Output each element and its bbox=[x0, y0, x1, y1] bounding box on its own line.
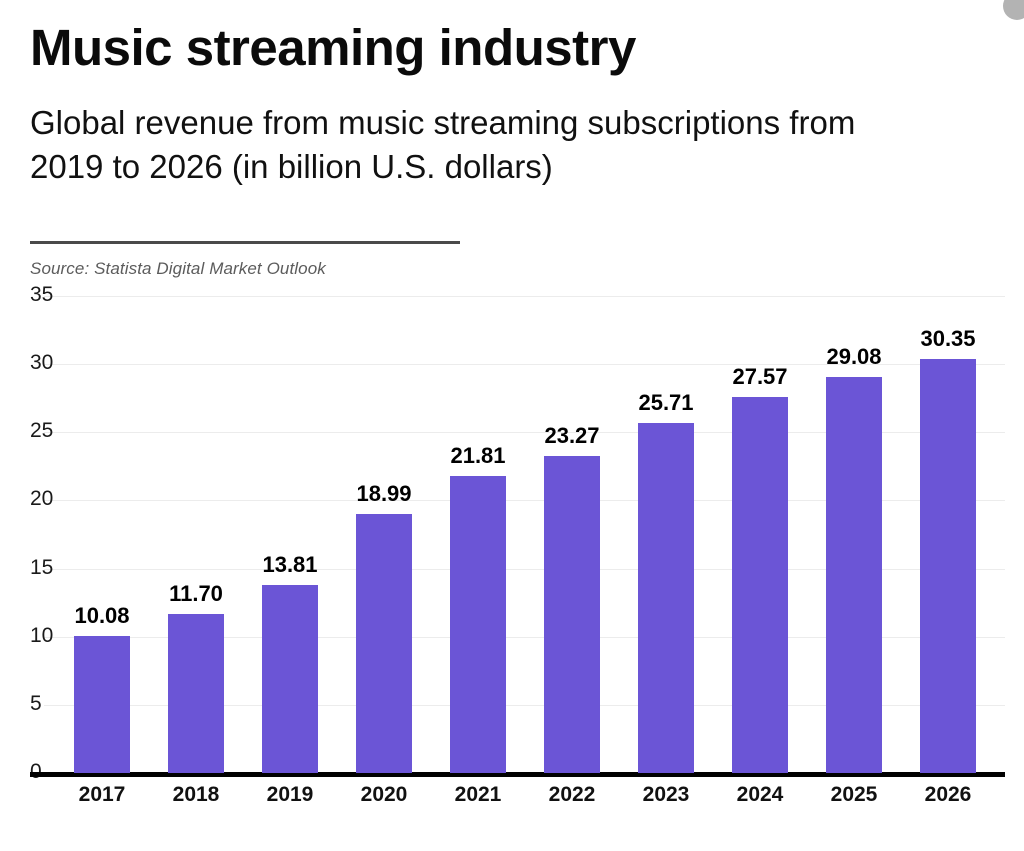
bar[interactable] bbox=[168, 614, 224, 773]
bar-value-label: 21.81 bbox=[428, 443, 528, 469]
bar[interactable] bbox=[74, 636, 130, 773]
bar-group[interactable]: 13.81 bbox=[262, 296, 318, 773]
bar-value-label: 13.81 bbox=[240, 552, 340, 578]
bar[interactable] bbox=[544, 456, 600, 773]
bar-series: 10.0811.7013.8118.9921.8123.2725.7127.57… bbox=[30, 296, 1005, 773]
bar[interactable] bbox=[450, 476, 506, 773]
bar-group[interactable]: 18.99 bbox=[356, 296, 412, 773]
x-axis-tick-label: 2026 bbox=[898, 783, 998, 807]
x-axis-tick-label: 2022 bbox=[522, 783, 622, 807]
bar-value-label: 18.99 bbox=[334, 481, 434, 507]
chart-header: Music streaming industry Global revenue … bbox=[30, 20, 990, 188]
bar-group[interactable]: 29.08 bbox=[826, 296, 882, 773]
x-axis-tick-label: 2020 bbox=[334, 783, 434, 807]
chart-page: Music streaming industry Global revenue … bbox=[0, 0, 1024, 851]
x-axis-tick-label: 2019 bbox=[240, 783, 340, 807]
bar[interactable] bbox=[920, 359, 976, 773]
bar-group[interactable]: 10.08 bbox=[74, 296, 130, 773]
bar[interactable] bbox=[732, 397, 788, 773]
x-axis-tick-label: 2021 bbox=[428, 783, 528, 807]
bar[interactable] bbox=[262, 585, 318, 773]
bar-value-label: 29.08 bbox=[804, 344, 904, 370]
bar[interactable] bbox=[356, 514, 412, 773]
bar[interactable] bbox=[638, 423, 694, 773]
bar-group[interactable]: 11.70 bbox=[168, 296, 224, 773]
bar-value-label: 23.27 bbox=[522, 423, 622, 449]
page-title: Music streaming industry bbox=[30, 20, 990, 75]
bar-value-label: 27.57 bbox=[710, 364, 810, 390]
x-axis-tick-label: 2023 bbox=[616, 783, 716, 807]
bar-group[interactable]: 30.35 bbox=[920, 296, 976, 773]
circle-icon bbox=[1003, 0, 1024, 20]
chart-subtitle: Global revenue from music streaming subs… bbox=[30, 75, 935, 188]
x-axis-tick-label: 2025 bbox=[804, 783, 904, 807]
bar-value-label: 10.08 bbox=[52, 603, 152, 629]
bar-group[interactable]: 27.57 bbox=[732, 296, 788, 773]
bar-value-label: 25.71 bbox=[616, 390, 716, 416]
bar[interactable] bbox=[826, 377, 882, 773]
x-axis-tick-label: 2018 bbox=[146, 783, 246, 807]
bar-group[interactable]: 21.81 bbox=[450, 296, 506, 773]
bar-group[interactable]: 23.27 bbox=[544, 296, 600, 773]
bar-group[interactable]: 25.71 bbox=[638, 296, 694, 773]
x-axis-tick-label: 2024 bbox=[710, 783, 810, 807]
header-divider bbox=[30, 241, 460, 244]
source-note: Source: Statista Digital Market Outlook bbox=[30, 259, 326, 279]
bar-value-label: 11.70 bbox=[146, 581, 246, 607]
bar-value-label: 30.35 bbox=[898, 326, 998, 352]
x-axis-tick-label: 2017 bbox=[52, 783, 152, 807]
